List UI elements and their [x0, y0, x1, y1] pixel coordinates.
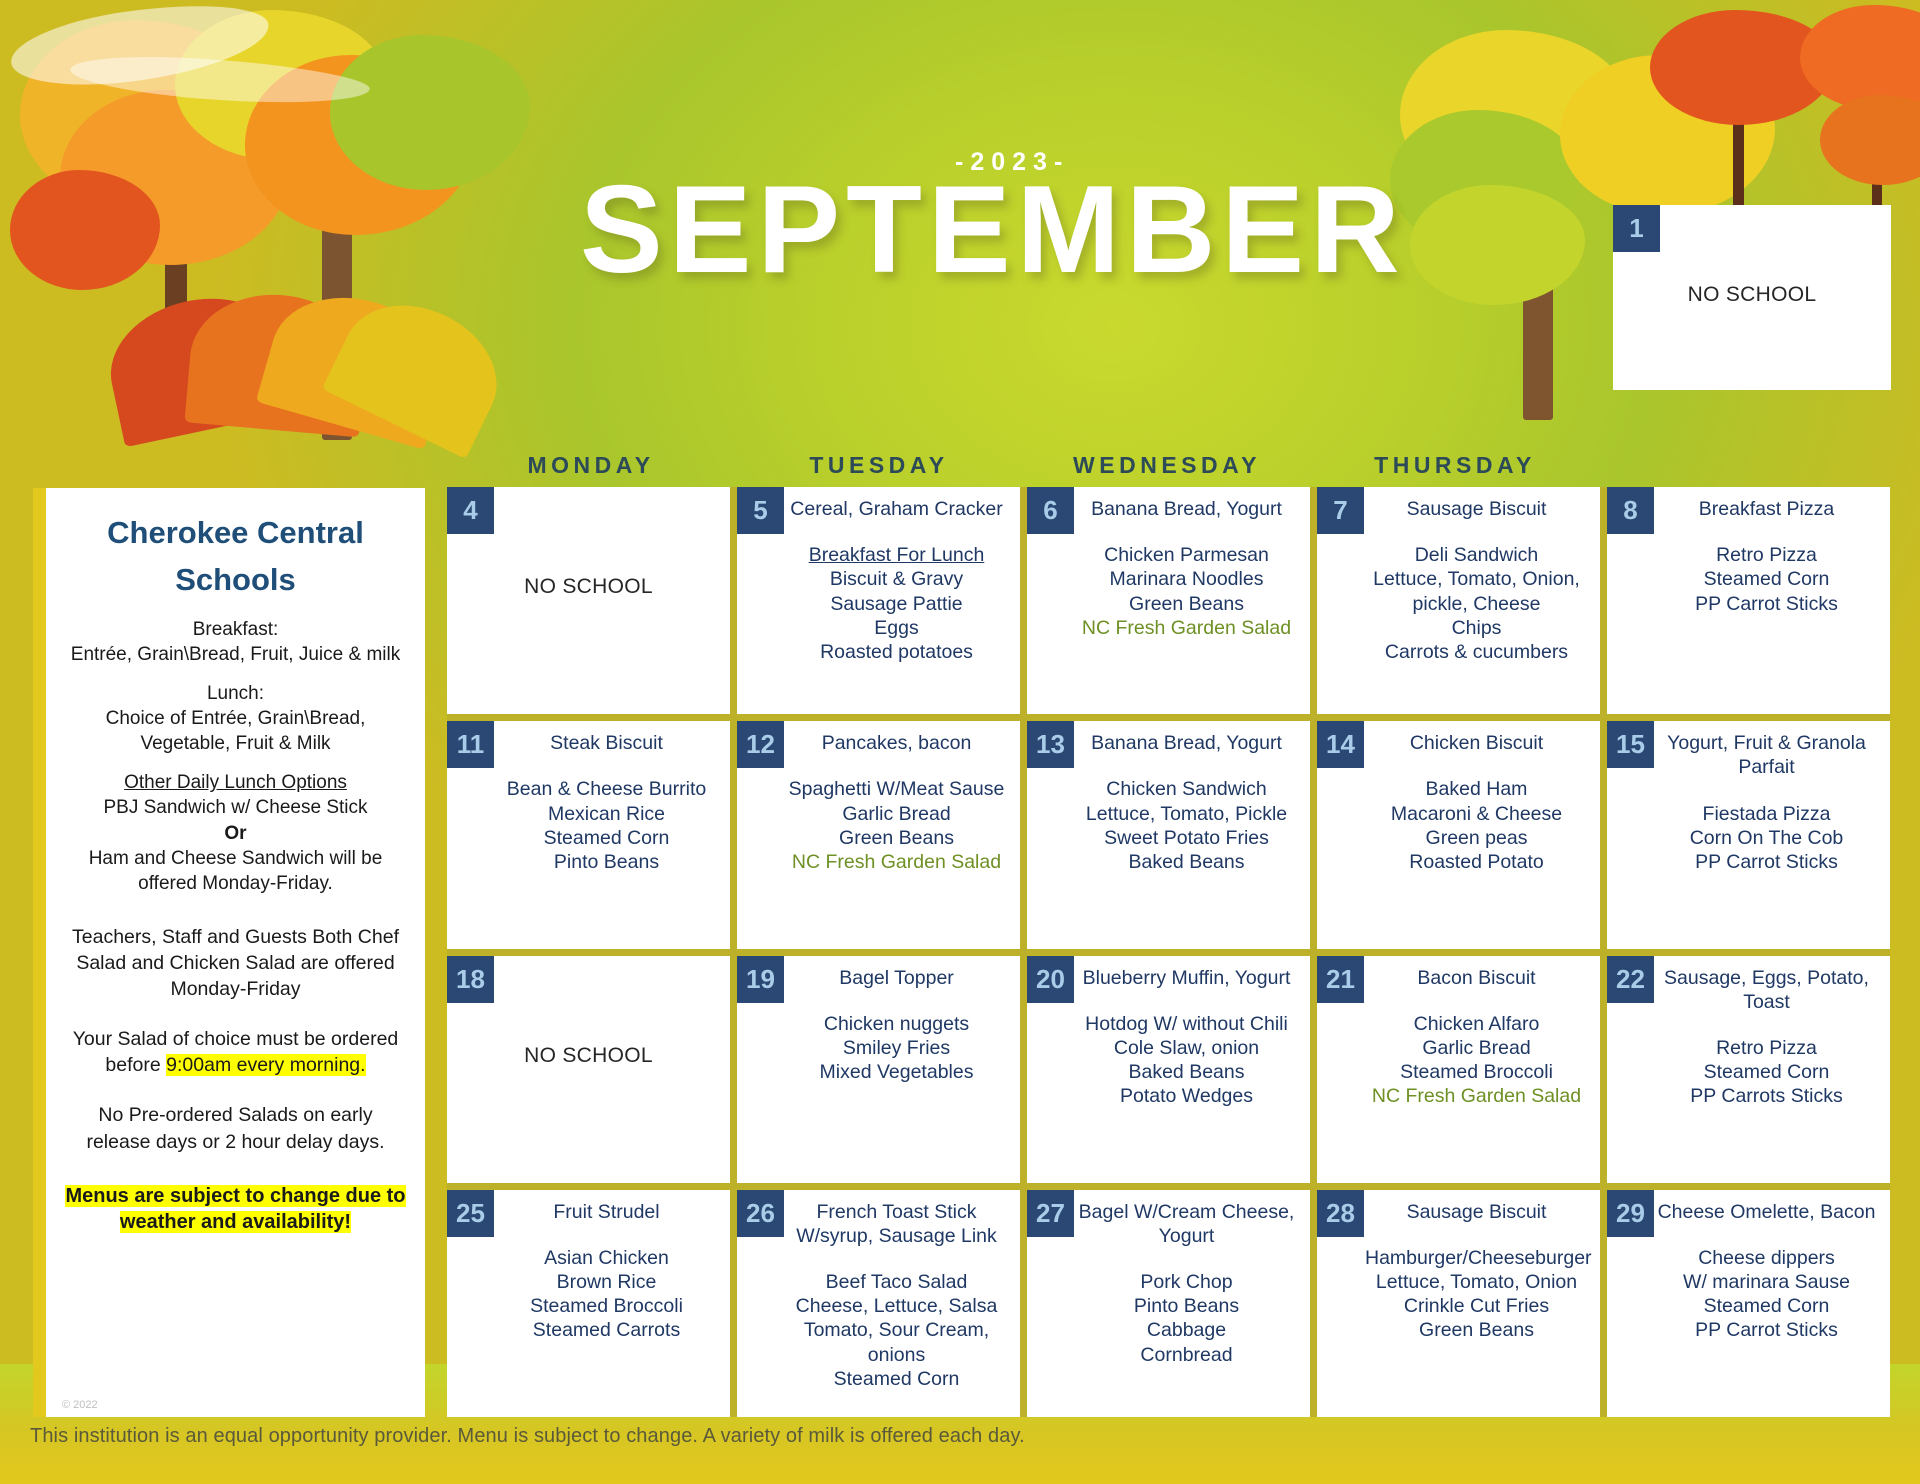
- calendar-day-cell[interactable]: 18NO SCHOOL: [447, 956, 730, 1183]
- calendar-day-cell[interactable]: 29Cheese Omelette, BaconCheese dippersW/…: [1607, 1190, 1890, 1417]
- menu-change-text: Menus are subject to change due to weath…: [65, 1185, 405, 1234]
- lunch-item: Steamed Corn: [495, 826, 718, 850]
- day-menu: Sausage BiscuitDeli SandwichLettuce, Tom…: [1325, 497, 1592, 664]
- lunch-item: Mexican Rice: [495, 802, 718, 826]
- lunch-item: Hotdog W/ without Chili: [1075, 1012, 1298, 1036]
- day-number: 29: [1607, 1190, 1654, 1237]
- lunch-item: Chicken nuggets: [785, 1012, 1008, 1036]
- weekday-header-monday: MONDAY: [447, 452, 735, 479]
- lunch-item: Green Beans: [785, 826, 1008, 850]
- breakfast-item: Yogurt, Fruit & Granola Parfait: [1655, 731, 1878, 779]
- lunch-item: Sausage Pattie: [785, 592, 1008, 616]
- calendar-day-cell[interactable]: 1 NO SCHOOL: [1613, 205, 1891, 390]
- lunch-item: W/ marinara Sause: [1655, 1270, 1878, 1294]
- lunch-item: Steamed Broccoli: [1365, 1060, 1588, 1084]
- lunch-item: Garlic Bread: [785, 802, 1008, 826]
- no-school-label: NO SCHOOL: [1621, 283, 1883, 307]
- calendar-day-cell[interactable]: 12Pancakes, baconSpaghetti W/Meat SauseG…: [737, 721, 1020, 948]
- lunch-item: Mixed Vegetables: [785, 1060, 1008, 1084]
- calendar-day-cell[interactable]: 28Sausage BiscuitHamburger/CheeseburgerL…: [1317, 1190, 1600, 1417]
- lunch-item: PP Carrot Sticks: [1655, 850, 1878, 874]
- lunch-menu: Chicken nuggetsSmiley FriesMixed Vegetab…: [785, 1012, 1008, 1085]
- day-menu: French Toast Stick W/syrup, Sausage Link…: [745, 1200, 1012, 1391]
- breakfast-item: Banana Bread, Yogurt: [1075, 731, 1298, 755]
- lunch-item: Steamed Corn: [785, 1367, 1008, 1391]
- lunch-item: Lettuce, Tomato, Pickle: [1075, 802, 1298, 826]
- lunch-item: Pinto Beans: [1075, 1294, 1298, 1318]
- lunch-item: Spaghetti W/Meat Sause: [785, 777, 1008, 801]
- breakfast-item: Sausage, Eggs, Potato, Toast: [1655, 966, 1878, 1014]
- lunch-item: Chicken Parmesan: [1075, 543, 1298, 567]
- day-menu: Steak BiscuitBean & Cheese BurritoMexica…: [455, 731, 722, 874]
- breakfast-item: Chicken Biscuit: [1365, 731, 1588, 755]
- breakfast-item: Bagel Topper: [785, 966, 1008, 990]
- lunch-menu: Retro PizzaSteamed CornPP Carrots Sticks: [1655, 1036, 1878, 1109]
- lunch-heading: Breakfast For Lunch: [785, 543, 1008, 567]
- breakfast-menu: Sausage Biscuit: [1365, 1200, 1588, 1224]
- breakfast-menu: Banana Bread, Yogurt: [1075, 497, 1298, 521]
- lunch-item: Cheese dippers: [1655, 1246, 1878, 1270]
- lunch-item: Eggs: [785, 616, 1008, 640]
- lunch-menu: Hotdog W/ without ChiliCole Slaw, onionB…: [1075, 1012, 1298, 1109]
- day-menu: Fruit StrudelAsian ChickenBrown RiceStea…: [455, 1200, 722, 1343]
- day-menu: Chicken BiscuitBaked HamMacaroni & Chees…: [1325, 731, 1592, 874]
- lunch-menu: Deli SandwichLettuce, Tomato, Onion,pick…: [1365, 543, 1588, 664]
- calendar-day-cell[interactable]: 19Bagel TopperChicken nuggetsSmiley Frie…: [737, 956, 1020, 1183]
- lunch-menu: Baked HamMacaroni & CheeseGreen peasRoas…: [1365, 777, 1588, 874]
- lunch-menu: Hamburger/CheeseburgerLettuce, Tomato, O…: [1365, 1246, 1588, 1343]
- breakfast-menu: French Toast Stick W/syrup, Sausage Link: [785, 1200, 1008, 1248]
- lunch-item: Bean & Cheese Burrito: [495, 777, 718, 801]
- lunch-menu: Bean & Cheese BurritoMexican RiceSteamed…: [495, 777, 718, 874]
- lunch-menu: Chicken AlfaroGarlic BreadSteamed Brocco…: [1365, 1012, 1588, 1109]
- day-number: 6: [1027, 487, 1074, 534]
- lunch-item: pickle, Cheese: [1365, 592, 1588, 616]
- lunch-item: Crinkle Cut Fries: [1365, 1294, 1588, 1318]
- lunch-menu: Chicken SandwichLettuce, Tomato, PickleS…: [1075, 777, 1298, 874]
- lunch-item: Steamed Broccoli: [495, 1294, 718, 1318]
- weekday-header-thursday: THURSDAY: [1311, 452, 1599, 479]
- lunch-item: Hamburger/Cheeseburger: [1365, 1246, 1588, 1270]
- calendar-grid: 4NO SCHOOL5Cereal, Graham CrackerBreakfa…: [447, 487, 1890, 1417]
- lunch-item: Baked Ham: [1365, 777, 1588, 801]
- calendar-day-cell[interactable]: 27Bagel W/Cream Cheese, YogurtPork ChopP…: [1027, 1190, 1310, 1417]
- day-menu: Blueberry Muffin, YogurtHotdog W/ withou…: [1035, 966, 1302, 1109]
- lunch-info: Lunch: Choice of Entrée, Grain\Bread, Ve…: [64, 681, 407, 756]
- lunch-item: Green peas: [1365, 826, 1588, 850]
- other-options-line2: Ham and Cheese Sandwich will be offered …: [64, 846, 407, 896]
- lunch-item: Cornbread: [1075, 1343, 1298, 1367]
- lunch-item: Asian Chicken: [495, 1246, 718, 1270]
- breakfast-menu: Cereal, Graham Cracker: [785, 497, 1008, 521]
- other-options-or: Or: [64, 821, 407, 846]
- day-number: 13: [1027, 721, 1074, 768]
- calendar-day-cell[interactable]: 26French Toast Stick W/syrup, Sausage Li…: [737, 1190, 1020, 1417]
- breakfast-menu: Breakfast Pizza: [1655, 497, 1878, 521]
- breakfast-item: Fruit Strudel: [495, 1200, 718, 1224]
- month-title: SEPTEMBER: [580, 168, 1406, 292]
- lunch-item: Lettuce, Tomato, Onion: [1365, 1270, 1588, 1294]
- day-menu: Cheese Omelette, BaconCheese dippersW/ m…: [1615, 1200, 1882, 1343]
- lunch-item: Steamed Corn: [1655, 1294, 1878, 1318]
- day-menu: Bacon BiscuitChicken AlfaroGarlic BreadS…: [1325, 966, 1592, 1109]
- calendar-day-cell[interactable]: 8Breakfast PizzaRetro PizzaSteamed CornP…: [1607, 487, 1890, 714]
- lunch-item: PP Carrot Sticks: [1655, 592, 1878, 616]
- day-menu: Breakfast PizzaRetro PizzaSteamed CornPP…: [1615, 497, 1882, 616]
- info-sidebar: Cherokee Central Schools Breakfast: Entr…: [33, 488, 425, 1417]
- breakfast-menu: Sausage, Eggs, Potato, Toast: [1655, 966, 1878, 1014]
- lunch-item: PP Carrot Sticks: [1655, 1318, 1878, 1342]
- day-number: 22: [1607, 956, 1654, 1003]
- lunch-item: Steamed Carrots: [495, 1318, 718, 1342]
- lunch-item: Cheese, Lettuce, Salsa: [785, 1294, 1008, 1318]
- lunch-menu: Asian ChickenBrown RiceSteamed BroccoliS…: [495, 1246, 718, 1343]
- calendar-day-cell[interactable]: 15Yogurt, Fruit & Granola ParfaitFiestad…: [1607, 721, 1890, 948]
- breakfast-description: Entrée, Grain\Bread, Fruit, Juice & milk: [64, 642, 407, 667]
- day-menu: Cereal, Graham CrackerBreakfast For Lunc…: [745, 497, 1012, 664]
- lunch-item: Chicken Sandwich: [1075, 777, 1298, 801]
- lunch-item: Steamed Corn: [1655, 567, 1878, 591]
- other-options-header: Other Daily Lunch Options: [64, 770, 407, 795]
- breakfast-item: Bacon Biscuit: [1365, 966, 1588, 990]
- day-menu: Banana Bread, YogurtChicken SandwichLett…: [1035, 731, 1302, 874]
- lunch-item: NC Fresh Garden Salad: [1075, 616, 1298, 640]
- menu-change-note: Menus are subject to change due to weath…: [64, 1183, 407, 1237]
- lunch-item: Tomato, Sour Cream,: [785, 1318, 1008, 1342]
- day-menu: Banana Bread, YogurtChicken ParmesanMari…: [1035, 497, 1302, 640]
- lunch-item: Roasted potatoes: [785, 640, 1008, 664]
- lunch-item: Baked Beans: [1075, 1060, 1298, 1084]
- calendar-day-cell[interactable]: 25Fruit StrudelAsian ChickenBrown RiceSt…: [447, 1190, 730, 1417]
- lunch-menu: Retro PizzaSteamed CornPP Carrot Sticks: [1655, 543, 1878, 616]
- day-number: 21: [1317, 956, 1364, 1003]
- lunch-menu: Beef Taco SaladCheese, Lettuce, SalsaTom…: [785, 1270, 1008, 1391]
- lunch-item: Macaroni & Cheese: [1365, 802, 1588, 826]
- weekday-header-tuesday: TUESDAY: [735, 452, 1023, 479]
- calendar-day-cell[interactable]: 4NO SCHOOL: [447, 487, 730, 714]
- breakfast-item: Blueberry Muffin, Yogurt: [1075, 966, 1298, 990]
- day-menu: Yogurt, Fruit & Granola ParfaitFiestada …: [1615, 731, 1882, 874]
- breakfast-item: Sausage Biscuit: [1365, 497, 1588, 521]
- weekday-header-wednesday: WEDNESDAY: [1023, 452, 1311, 479]
- preorder-note: No Pre-ordered Salads on early release d…: [64, 1102, 407, 1154]
- breakfast-item: French Toast Stick W/syrup, Sausage Link: [785, 1200, 1008, 1248]
- calendar-day-cell[interactable]: 5Cereal, Graham CrackerBreakfast For Lun…: [737, 487, 1020, 714]
- breakfast-item: Cereal, Graham Cracker: [785, 497, 1008, 521]
- day-number: 1: [1613, 205, 1660, 252]
- day-number: 5: [737, 487, 784, 534]
- lunch-description: Choice of Entrée, Grain\Bread, Vegetable…: [64, 706, 407, 756]
- lunch-item: Chicken Alfaro: [1365, 1012, 1588, 1036]
- calendar-day-cell[interactable]: 11Steak BiscuitBean & Cheese BurritoMexi…: [447, 721, 730, 948]
- breakfast-menu: Steak Biscuit: [495, 731, 718, 755]
- lunch-item: Steamed Corn: [1655, 1060, 1878, 1084]
- breakfast-menu: Chicken Biscuit: [1365, 731, 1588, 755]
- day-menu: Sausage BiscuitHamburger/CheeseburgerLet…: [1325, 1200, 1592, 1343]
- school-name: Cherokee Central Schools: [64, 510, 407, 603]
- other-lunch-options: Other Daily Lunch Options PBJ Sandwich w…: [64, 770, 407, 895]
- no-school-label: NO SCHOOL: [455, 575, 722, 599]
- day-number: 19: [737, 956, 784, 1003]
- calendar-day-cell[interactable]: 13Banana Bread, YogurtChicken SandwichLe…: [1027, 721, 1310, 948]
- lunch-menu: Spaghetti W/Meat SauseGarlic BreadGreen …: [785, 777, 1008, 874]
- lunch-label: Lunch:: [64, 681, 407, 706]
- breakfast-item: Sausage Biscuit: [1365, 1200, 1588, 1224]
- lunch-item: Cole Slaw, onion: [1075, 1036, 1298, 1060]
- lunch-item: Green Beans: [1075, 592, 1298, 616]
- calendar-day-cell[interactable]: 22Sausage, Eggs, Potato, ToastRetro Pizz…: [1607, 956, 1890, 1183]
- day-menu: Bagel W/Cream Cheese, YogurtPork ChopPin…: [1035, 1200, 1302, 1367]
- breakfast-item: Banana Bread, Yogurt: [1075, 497, 1298, 521]
- day-number: 7: [1317, 487, 1364, 534]
- breakfast-menu: Bagel W/Cream Cheese, Yogurt: [1075, 1200, 1298, 1248]
- day-number: 12: [737, 721, 784, 768]
- lunch-item: Green Beans: [1365, 1318, 1588, 1342]
- breakfast-menu: Bagel Topper: [785, 966, 1008, 990]
- calendar-day-cell[interactable]: 7Sausage BiscuitDeli SandwichLettuce, To…: [1317, 487, 1600, 714]
- breakfast-item: Cheese Omelette, Bacon: [1655, 1200, 1878, 1224]
- lunch-item: PP Carrots Sticks: [1655, 1084, 1878, 1108]
- lunch-item: Cabbage: [1075, 1318, 1298, 1342]
- day-number: 11: [447, 721, 494, 768]
- breakfast-label: Breakfast:: [64, 617, 407, 642]
- school-name-line1: Cherokee Central: [64, 510, 407, 557]
- other-options-line1: PBJ Sandwich w/ Cheese Stick: [64, 795, 407, 820]
- lunch-menu: Breakfast For LunchBiscuit & GravySausag…: [785, 543, 1008, 664]
- lunch-item: Deli Sandwich: [1365, 543, 1588, 567]
- lunch-item: Smiley Fries: [785, 1036, 1008, 1060]
- lunch-item: Retro Pizza: [1655, 1036, 1878, 1060]
- calendar-day-cell[interactable]: 21Bacon BiscuitChicken AlfaroGarlic Brea…: [1317, 956, 1600, 1183]
- lunch-menu: Pork ChopPinto BeansCabbageCornbread: [1075, 1270, 1298, 1367]
- breakfast-menu: Sausage Biscuit: [1365, 497, 1588, 521]
- breakfast-menu: Blueberry Muffin, Yogurt: [1075, 966, 1298, 990]
- calendar-day-cell[interactable]: 6Banana Bread, YogurtChicken ParmesanMar…: [1027, 487, 1310, 714]
- copyright-label: © 2022: [62, 1399, 98, 1411]
- lunch-item: Corn On The Cob: [1655, 826, 1878, 850]
- breakfast-menu: Bacon Biscuit: [1365, 966, 1588, 990]
- salad-order-highlight: 9:00am every morning.: [166, 1054, 365, 1076]
- breakfast-menu: Fruit Strudel: [495, 1200, 718, 1224]
- school-name-line2: Schools: [64, 557, 407, 604]
- lunch-item: Brown Rice: [495, 1270, 718, 1294]
- breakfast-info: Breakfast: Entrée, Grain\Bread, Fruit, J…: [64, 617, 407, 667]
- breakfast-menu: Yogurt, Fruit & Granola Parfait: [1655, 731, 1878, 779]
- lunch-item: NC Fresh Garden Salad: [785, 850, 1008, 874]
- lunch-item: Retro Pizza: [1655, 543, 1878, 567]
- lunch-item: Carrots & cucumbers: [1365, 640, 1588, 664]
- lunch-item: Biscuit & Gravy: [785, 567, 1008, 591]
- day-number: 8: [1607, 487, 1654, 534]
- breakfast-menu: Banana Bread, Yogurt: [1075, 731, 1298, 755]
- lunch-item: Garlic Bread: [1365, 1036, 1588, 1060]
- calendar-day-cell[interactable]: 20Blueberry Muffin, YogurtHotdog W/ with…: [1027, 956, 1310, 1183]
- lunch-menu: Chicken ParmesanMarinara NoodlesGreen Be…: [1075, 543, 1298, 640]
- day-number: 18: [447, 956, 494, 1003]
- day-menu: Sausage, Eggs, Potato, ToastRetro PizzaS…: [1615, 966, 1882, 1109]
- staff-salad-note: Teachers, Staff and Guests Both Chef Sal…: [64, 924, 407, 1002]
- day-number: 20: [1027, 956, 1074, 1003]
- lunch-item: Baked Beans: [1075, 850, 1298, 874]
- lunch-item: Lettuce, Tomato, Onion,: [1365, 567, 1588, 591]
- lunch-item: Pinto Beans: [495, 850, 718, 874]
- breakfast-item: Bagel W/Cream Cheese, Yogurt: [1075, 1200, 1298, 1248]
- day-number: 26: [737, 1190, 784, 1237]
- lunch-item: Pork Chop: [1075, 1270, 1298, 1294]
- day-number: 25: [447, 1190, 494, 1237]
- breakfast-item: Steak Biscuit: [495, 731, 718, 755]
- lunch-menu: Fiestada PizzaCorn On The CobPP Carrot S…: [1655, 802, 1878, 875]
- lunch-item: Fiestada Pizza: [1655, 802, 1878, 826]
- lunch-item: Roasted Potato: [1365, 850, 1588, 874]
- breakfast-menu: Pancakes, bacon: [785, 731, 1008, 755]
- salad-order-note: Your Salad of choice must be ordered bef…: [64, 1026, 407, 1078]
- day-number: 4: [447, 487, 494, 534]
- day-number: 14: [1317, 721, 1364, 768]
- day-menu: Bagel TopperChicken nuggetsSmiley FriesM…: [745, 966, 1012, 1085]
- lunch-item: Beef Taco Salad: [785, 1270, 1008, 1294]
- day-number: 15: [1607, 721, 1654, 768]
- no-school-label: NO SCHOOL: [455, 1044, 722, 1068]
- lunch-menu: Cheese dippersW/ marinara SauseSteamed C…: [1655, 1246, 1878, 1343]
- lunch-item: onions: [785, 1343, 1008, 1367]
- breakfast-item: Breakfast Pizza: [1655, 497, 1878, 521]
- lunch-item: Marinara Noodles: [1075, 567, 1298, 591]
- calendar-day-cell[interactable]: 14Chicken BiscuitBaked HamMacaroni & Che…: [1317, 721, 1600, 948]
- lunch-item: Chips: [1365, 616, 1588, 640]
- day-number: 28: [1317, 1190, 1364, 1237]
- footer-note: This institution is an equal opportunity…: [30, 1425, 1025, 1448]
- lunch-item: NC Fresh Garden Salad: [1365, 1084, 1588, 1108]
- breakfast-item: Pancakes, bacon: [785, 731, 1008, 755]
- lunch-item: Sweet Potato Fries: [1075, 826, 1298, 850]
- lunch-item: Potato Wedges: [1075, 1084, 1298, 1108]
- day-menu: Pancakes, baconSpaghetti W/Meat SauseGar…: [745, 731, 1012, 874]
- day-number: 27: [1027, 1190, 1074, 1237]
- breakfast-menu: Cheese Omelette, Bacon: [1655, 1200, 1878, 1224]
